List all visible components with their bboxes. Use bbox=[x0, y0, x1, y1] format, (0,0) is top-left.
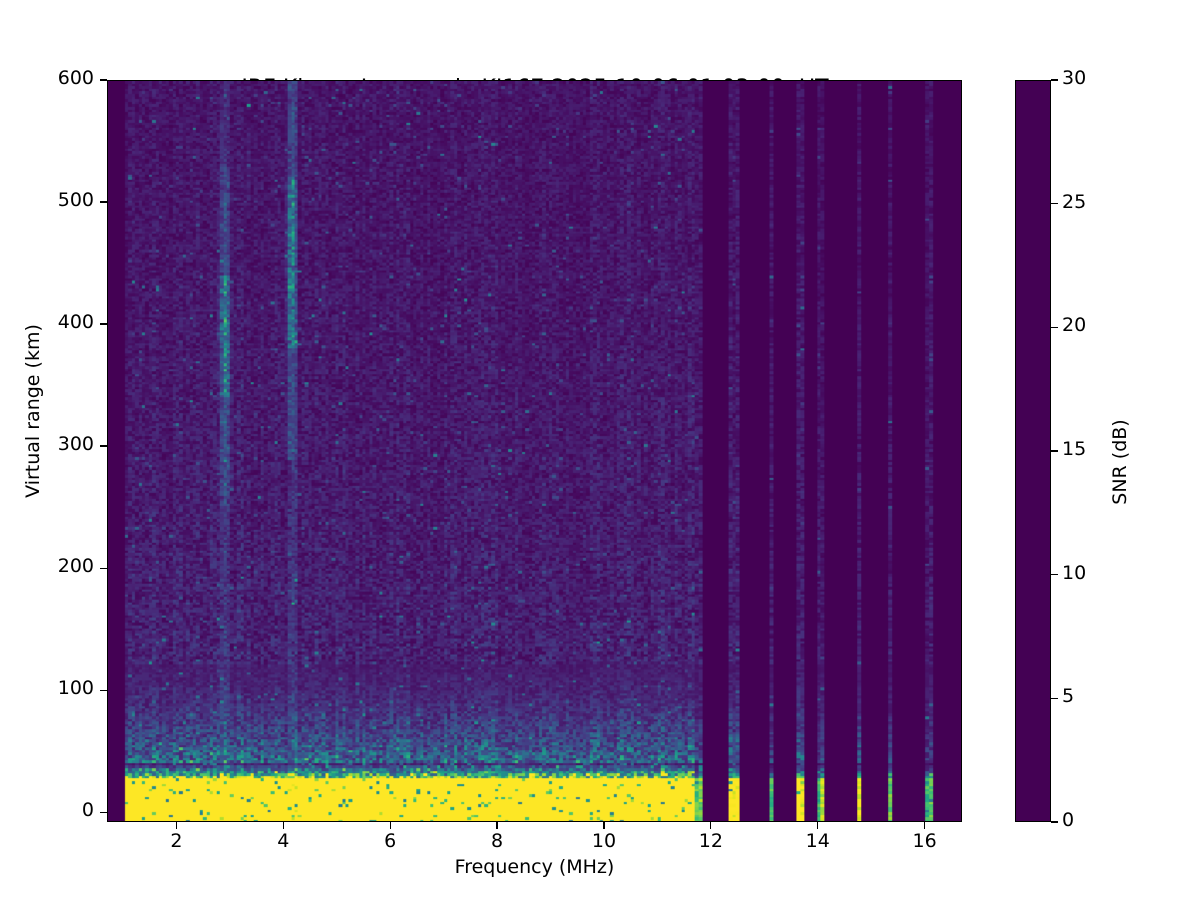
y-tick-mark bbox=[100, 445, 107, 446]
y-tick-mark bbox=[100, 323, 107, 324]
colorbar-tick-mark bbox=[1051, 79, 1058, 80]
colorbar-tick-mark bbox=[1051, 574, 1058, 575]
x-tick-label: 8 bbox=[467, 830, 527, 852]
y-tick-mark bbox=[100, 201, 107, 202]
x-tick-label: 16 bbox=[895, 830, 955, 852]
y-tick-label: 600 bbox=[7, 67, 94, 89]
x-tick-mark bbox=[924, 822, 925, 829]
x-tick-mark bbox=[817, 822, 818, 829]
colorbar-tick-mark bbox=[1051, 327, 1058, 328]
colorbar-tick-mark bbox=[1051, 450, 1058, 451]
colorbar-gradient bbox=[1016, 81, 1050, 821]
y-tick-label: 200 bbox=[7, 555, 94, 577]
colorbar-tick-mark bbox=[1051, 821, 1058, 822]
x-tick-label: 12 bbox=[681, 830, 741, 852]
colorbar-tick-label: 10 bbox=[1062, 562, 1086, 584]
x-tick-mark bbox=[283, 822, 284, 829]
y-tick-label: 100 bbox=[7, 677, 94, 699]
ionogram-figure: IRF Kiruna Ionosonde KI167 2025-10-06 01… bbox=[0, 0, 1200, 900]
colorbar-tick-mark bbox=[1051, 203, 1058, 204]
x-tick-label: 14 bbox=[788, 830, 848, 852]
x-tick-mark bbox=[176, 822, 177, 829]
x-tick-label: 6 bbox=[360, 830, 420, 852]
y-tick-label: 300 bbox=[7, 433, 94, 455]
y-tick-mark bbox=[100, 568, 107, 569]
y-tick-mark bbox=[100, 690, 107, 691]
x-tick-mark bbox=[710, 822, 711, 829]
y-tick-label: 0 bbox=[7, 799, 94, 821]
ionogram-heatmap-canvas bbox=[108, 81, 961, 821]
colorbar-label: SNR (dB) bbox=[1109, 342, 1131, 582]
x-tick-label: 2 bbox=[146, 830, 206, 852]
colorbar bbox=[1015, 80, 1051, 822]
x-tick-mark bbox=[496, 822, 497, 829]
x-axis-label: Frequency (MHz) bbox=[107, 856, 962, 878]
colorbar-tick-label: 5 bbox=[1062, 685, 1074, 707]
y-tick-label: 500 bbox=[7, 189, 94, 211]
colorbar-tick-label: 30 bbox=[1062, 67, 1086, 89]
y-tick-label: 400 bbox=[7, 311, 94, 333]
colorbar-tick-label: 0 bbox=[1062, 809, 1074, 831]
x-tick-label: 4 bbox=[253, 830, 313, 852]
y-tick-mark bbox=[100, 812, 107, 813]
x-tick-mark bbox=[603, 822, 604, 829]
x-tick-mark bbox=[390, 822, 391, 829]
colorbar-tick-label: 15 bbox=[1062, 438, 1086, 460]
colorbar-tick-label: 25 bbox=[1062, 191, 1086, 213]
ionogram-plot-area bbox=[107, 80, 962, 822]
colorbar-tick-mark bbox=[1051, 698, 1058, 699]
y-tick-mark bbox=[100, 79, 107, 80]
colorbar-tick-label: 20 bbox=[1062, 314, 1086, 336]
x-tick-label: 10 bbox=[574, 830, 634, 852]
